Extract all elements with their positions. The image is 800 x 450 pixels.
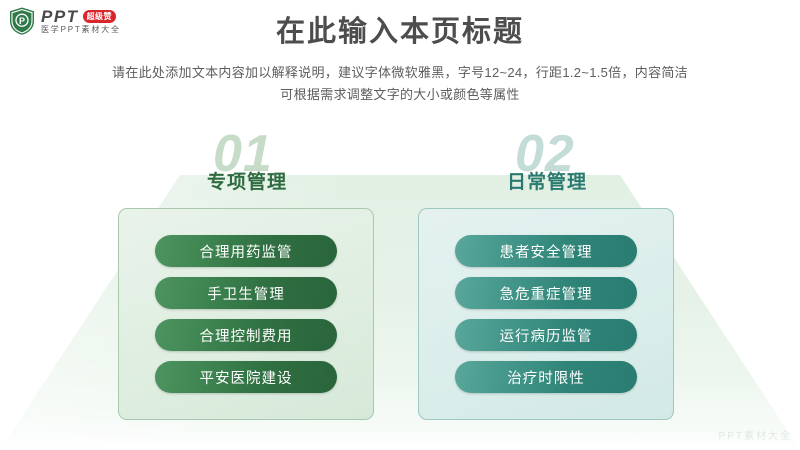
page-title: 在此输入本页标题 <box>0 17 800 49</box>
watermark: PPT素材大全 <box>719 427 792 442</box>
list-item[interactable]: 平安医院建设 <box>155 361 337 393</box>
list-item[interactable]: 急危重症管理 <box>455 277 637 309</box>
section-card-01[interactable]: 合理用药监管 手卫生管理 合理控制费用 平安医院建设 <box>118 208 374 420</box>
list-item[interactable]: 手卫生管理 <box>155 277 337 309</box>
subtitle-line-1: 请在此处添加文本内容加以解释说明，建议字体微软雅黑，字号12~24，行距1.2~… <box>0 62 800 84</box>
list-item[interactable]: 运行病历监管 <box>455 319 637 351</box>
subtitle-line-2: 可根据需求调整文字的大小或颜色等属性 <box>0 84 800 106</box>
section-heading-01: 专项管理 <box>118 173 376 192</box>
section-heading-02: 日常管理 <box>418 173 676 192</box>
list-item[interactable]: 患者安全管理 <box>455 235 637 267</box>
list-item[interactable]: 合理用药监管 <box>155 235 337 267</box>
list-item[interactable]: 合理控制费用 <box>155 319 337 351</box>
page-subtitle: 请在此处添加文本内容加以解释说明，建议字体微软雅黑，字号12~24，行距1.2~… <box>0 62 800 106</box>
list-item[interactable]: 治疗时限性 <box>455 361 637 393</box>
section-card-02[interactable]: 患者安全管理 急危重症管理 运行病历监管 治疗时限性 <box>418 208 674 420</box>
